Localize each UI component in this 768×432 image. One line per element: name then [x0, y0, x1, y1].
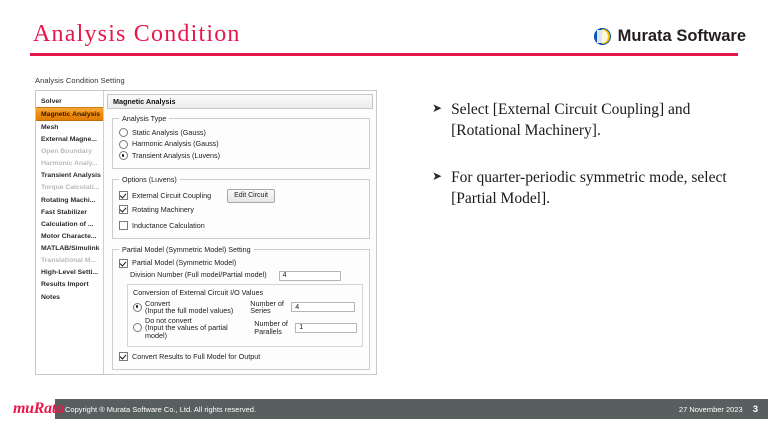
checkbox-inductance-calculation[interactable] — [119, 221, 128, 230]
options-luvens-legend: Options (Luvens) — [119, 175, 180, 184]
page-number: 3 — [753, 404, 758, 415]
sidebar-item-external-magnetic[interactable]: External Magne... — [36, 133, 103, 145]
sidebar-item-results-import[interactable]: Results Import — [36, 279, 103, 291]
edit-circuit-button[interactable]: Edit Circuit — [227, 189, 275, 203]
row-partial-model-enable: Partial Model (Symmetric Model) — [119, 259, 363, 268]
arrow-bullet-icon: ➤ — [432, 168, 442, 210]
sidebar-item-motor-characteristics[interactable]: Motor Characte... — [36, 230, 103, 242]
row-rotating-machinery: Rotating Machinery — [119, 205, 363, 214]
convert-line2: (Input the full model values) — [145, 307, 233, 315]
bullet-list: ➤ Select [External Circuit Coupling] and… — [432, 100, 748, 236]
sidebar-item-open-boundary: Open Boundary — [36, 146, 103, 158]
bullet-text: Select [External Circuit Coupling] and [… — [451, 100, 748, 142]
number-of-parallels-label: Number of Parallels — [254, 320, 292, 335]
radio-do-not-convert[interactable] — [133, 323, 142, 332]
checkbox-rotating-machinery[interactable] — [119, 205, 128, 214]
sidebar-item-high-level-settings[interactable]: High-Level Setti... — [36, 267, 103, 279]
brand-name: Murata Software — [618, 27, 746, 46]
radio-icon[interactable] — [119, 128, 128, 137]
row-inductance-calculation: Inductance Calculation — [119, 221, 363, 230]
radio-label: Harmonic Analysis (Gauss) — [132, 140, 219, 148]
radio-icon-selected[interactable] — [119, 151, 128, 160]
checkbox-external-circuit-coupling[interactable] — [119, 191, 128, 200]
sidebar-item-calculation-of[interactable]: Calculation of ... — [36, 218, 103, 230]
row-division-number: Division Number (Full model/Partial mode… — [130, 271, 363, 281]
sidebar-item-fast-stabilizer[interactable]: Fast Stabilizer — [36, 206, 103, 218]
dialog-caption: Analysis Condition Setting — [35, 76, 125, 85]
options-luvens-group: Options (Luvens) External Circuit Coupli… — [112, 175, 370, 239]
partial-model-legend: Partial Model (Symmetric Model) Setting — [119, 245, 254, 254]
series-line2: Series — [250, 307, 288, 315]
row-convert-results: Convert Results to Full Model for Output — [119, 352, 363, 361]
bullet-text: For quarter-periodic symmetric mode, sel… — [451, 168, 748, 210]
footer-meta: 27 November 2023 3 — [679, 404, 768, 415]
radio-icon[interactable] — [119, 140, 128, 149]
number-of-series-input[interactable]: 4 — [291, 302, 355, 312]
division-number-label: Division Number (Full model/Partial mode… — [130, 271, 267, 279]
checkbox-label: Rotating Machinery — [132, 206, 194, 214]
sidebar-item-transient-analysis[interactable]: Transient Analysis — [36, 170, 103, 182]
analysis-type-group: Analysis Type Static Analysis (Gauss) Ha… — [112, 114, 370, 169]
do-not-convert-line2: (Input the values of partial model) — [145, 324, 247, 339]
radio-static-analysis[interactable]: Static Analysis (Gauss) — [119, 128, 363, 137]
sidebar-item-solver[interactable]: Solver — [36, 95, 103, 107]
checkbox-label: Convert Results to Full Model for Output — [132, 353, 260, 361]
checkbox-label: Partial Model (Symmetric Model) — [132, 259, 236, 267]
brand-logo: Murata Software — [594, 27, 746, 46]
copyright-text: Copyright ® Murata Software Co., Ltd. Al… — [55, 405, 256, 414]
page-title: Analysis Condition — [33, 21, 241, 48]
dialog-sidebar: Solver Magnetic Analysis Mesh External M… — [36, 91, 104, 374]
header-divider — [30, 53, 738, 56]
row-external-circuit-coupling: External Circuit Coupling Edit Circuit — [119, 189, 363, 203]
do-not-convert-labels: Do not convert (Input the values of part… — [145, 317, 247, 340]
checkbox-convert-results[interactable] — [119, 352, 128, 361]
division-number-input[interactable]: 4 — [279, 271, 341, 281]
conversion-caption: Conversion of External Circuit I/O Value… — [133, 288, 357, 297]
number-of-parallels-input[interactable]: 1 — [295, 323, 357, 333]
radio-transient-analysis[interactable]: Transient Analysis (Luvens) — [119, 151, 363, 160]
sidebar-item-notes[interactable]: Notes — [36, 291, 103, 303]
analysis-condition-dialog: Solver Magnetic Analysis Mesh External M… — [35, 90, 377, 375]
murata-globe-icon — [594, 28, 611, 45]
sidebar-item-magnetic-analysis[interactable]: Magnetic Analysis — [36, 107, 103, 121]
sidebar-item-mesh[interactable]: Mesh — [36, 121, 103, 133]
murata-wordmark: muRata — [13, 400, 64, 418]
radio-convert[interactable] — [133, 303, 142, 312]
conversion-panel: Conversion of External Circuit I/O Value… — [127, 284, 363, 348]
radio-label: Transient Analysis (Luvens) — [132, 152, 220, 160]
list-item: ➤ For quarter-periodic symmetric mode, s… — [432, 168, 748, 210]
sidebar-item-torque-calculation: Torque Calculati... — [36, 182, 103, 194]
arrow-bullet-icon: ➤ — [432, 100, 442, 142]
checkbox-partial-model[interactable] — [119, 259, 128, 268]
sidebar-item-translational-motion: Translational M... — [36, 255, 103, 267]
footer-date: 27 November 2023 — [679, 405, 743, 414]
checkbox-label: External Circuit Coupling — [132, 192, 211, 200]
row-do-not-convert: Do not convert (Input the values of part… — [133, 317, 357, 340]
radio-harmonic-analysis[interactable]: Harmonic Analysis (Gauss) — [119, 140, 363, 149]
convert-labels: Convert (Input the full model values) — [145, 300, 233, 315]
checkbox-label: Inductance Calculation — [132, 222, 205, 230]
number-of-series-label: Number of Series — [250, 300, 288, 315]
sidebar-item-rotating-machinery[interactable]: Rotating Machi... — [36, 194, 103, 206]
parallels-line2: Parallels — [254, 328, 292, 336]
partial-model-group: Partial Model (Symmetric Model) Setting … — [112, 245, 370, 370]
radio-label: Static Analysis (Gauss) — [132, 129, 206, 137]
footer-bar: Copyright ® Murata Software Co., Ltd. Al… — [55, 399, 768, 419]
list-item: ➤ Select [External Circuit Coupling] and… — [432, 100, 748, 142]
sidebar-item-harmonic-analysis: Harmonic Analy... — [36, 158, 103, 170]
pane-title: Magnetic Analysis — [107, 94, 373, 109]
analysis-type-legend: Analysis Type — [119, 114, 169, 123]
row-convert: Convert (Input the full model values) Nu… — [133, 300, 357, 315]
sidebar-item-matlab-simulink[interactable]: MATLAB/Simulink — [36, 243, 103, 255]
